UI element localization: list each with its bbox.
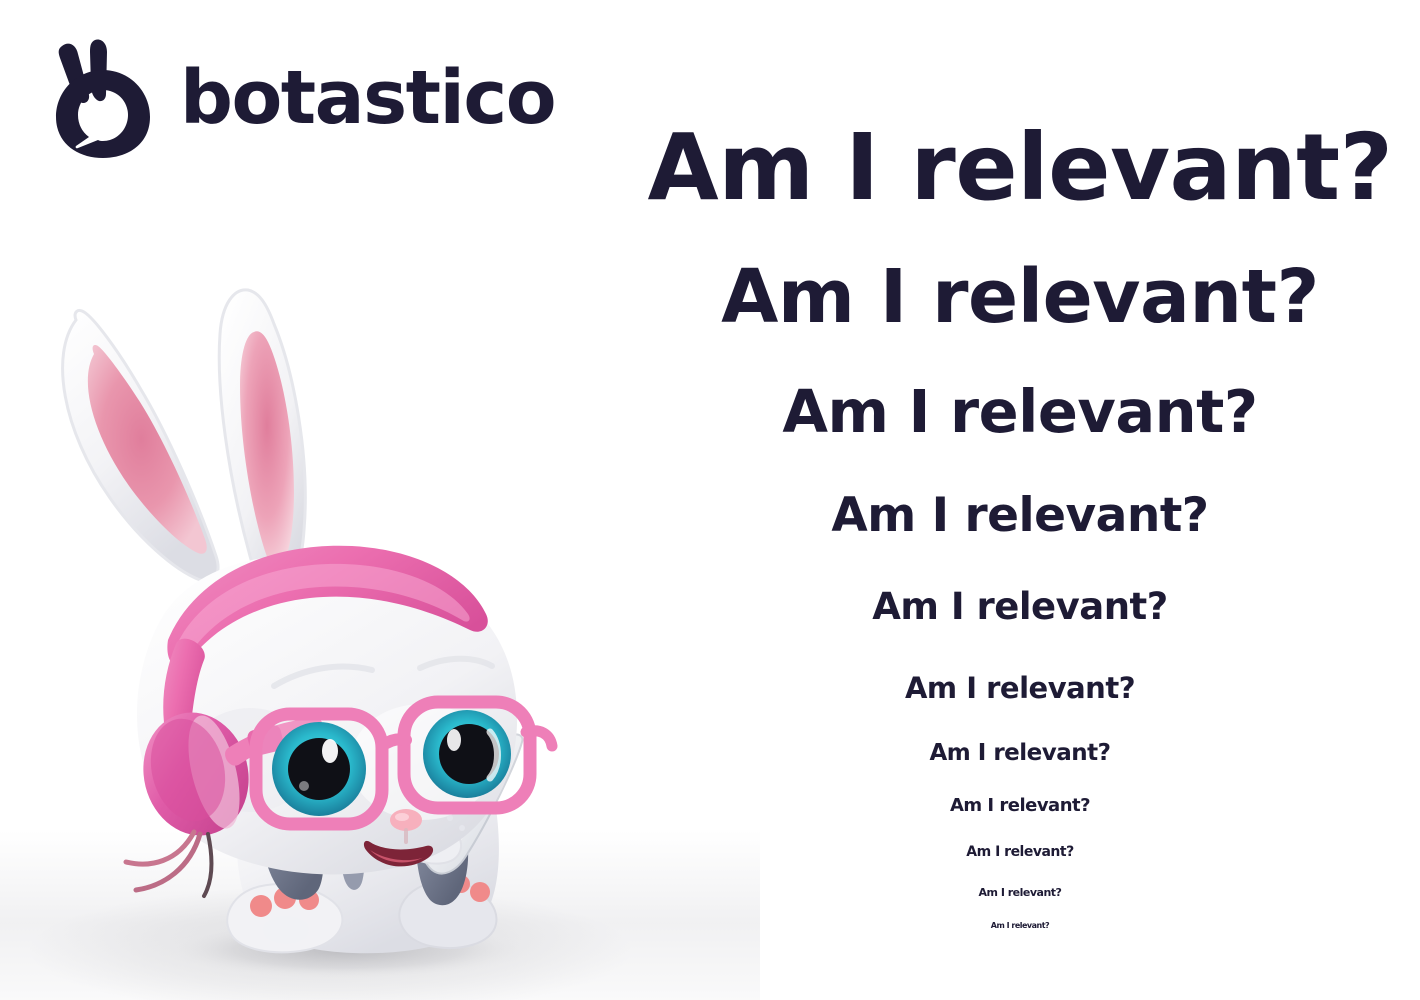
poster-canvas: botastico	[0, 0, 1420, 1000]
headline-stack: Am I relevant? Am I relevant? Am I relev…	[600, 60, 1420, 960]
headline-line: Am I relevant?	[610, 382, 1420, 441]
headline-line: Am I relevant?	[610, 260, 1420, 334]
headline-line: Am I relevant?	[610, 845, 1420, 859]
headline-line: Am I relevant?	[610, 122, 1420, 214]
headline-line: Am I relevant?	[610, 887, 1420, 898]
brand-logo[interactable]: botastico	[48, 38, 555, 158]
headline-line: Am I relevant?	[610, 588, 1420, 625]
headline-line: Am I relevant?	[610, 742, 1420, 765]
botastico-bunny-mascot	[18, 262, 618, 992]
headline-line: Am I relevant?	[610, 674, 1420, 703]
headline-line: Am I relevant?	[610, 922, 1420, 930]
bunny-speech-bubble-icon	[48, 38, 158, 158]
headline-line: Am I relevant?	[610, 492, 1420, 539]
brand-name: botastico	[180, 61, 555, 135]
headline-line: Am I relevant?	[610, 797, 1420, 815]
